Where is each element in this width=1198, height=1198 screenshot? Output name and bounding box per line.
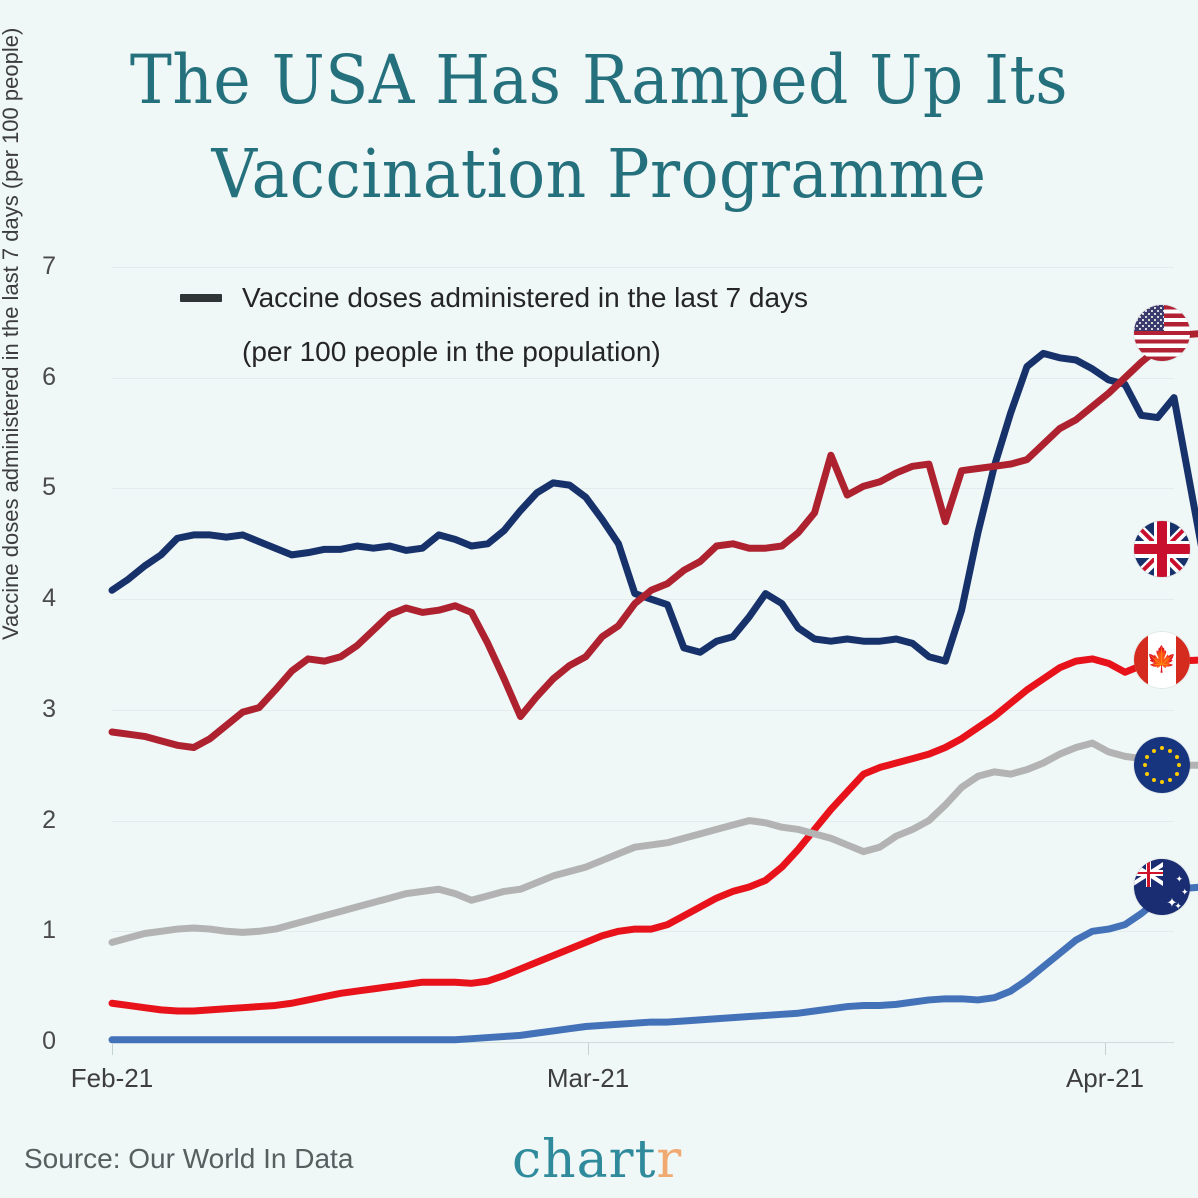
eu-star (1152, 749, 1156, 753)
canada-flag-icon: 🍁 (1134, 632, 1190, 688)
eu-star (1168, 749, 1172, 753)
eu-star (1177, 763, 1181, 767)
x-tick-label: Apr-21 (1005, 1063, 1198, 1094)
australia-flag-icon: ✦ ✦ ✦ ✦ ✦ (1134, 859, 1190, 915)
eu-star (1175, 755, 1179, 759)
usa-flag-icon (1134, 305, 1190, 361)
chart-canvas: 01234567 Vaccine doses administered in t… (0, 0, 1198, 1198)
series-line (112, 887, 1198, 1040)
uk-flag-icon (1134, 521, 1190, 577)
eu-flag-icon (1134, 737, 1190, 793)
series-lines (0, 0, 1198, 1198)
eu-star (1160, 746, 1164, 750)
eu-star (1145, 755, 1149, 759)
source-label: Source: Our World In Data (24, 1143, 353, 1175)
eu-star (1152, 778, 1156, 782)
x-tick-mark (588, 1043, 589, 1055)
eu-star (1145, 772, 1149, 776)
series-line (112, 659, 1198, 1011)
series-line (112, 353, 1198, 661)
eu-star (1160, 780, 1164, 784)
chartr-logo: chartr (512, 1130, 682, 1190)
x-tick-label: Feb-21 (12, 1063, 212, 1094)
logo-text-main: chart (512, 1130, 656, 1190)
eu-star (1143, 763, 1147, 767)
x-tick-label: Mar-21 (488, 1063, 688, 1094)
eu-star (1175, 772, 1179, 776)
x-tick-mark (1105, 1043, 1106, 1055)
chart-page: The USA Has Ramped Up Its Vaccination Pr… (0, 0, 1198, 1198)
series-line (112, 743, 1198, 942)
eu-star (1168, 778, 1172, 782)
logo-text-accent: r (656, 1130, 682, 1190)
x-tick-mark (112, 1043, 113, 1055)
